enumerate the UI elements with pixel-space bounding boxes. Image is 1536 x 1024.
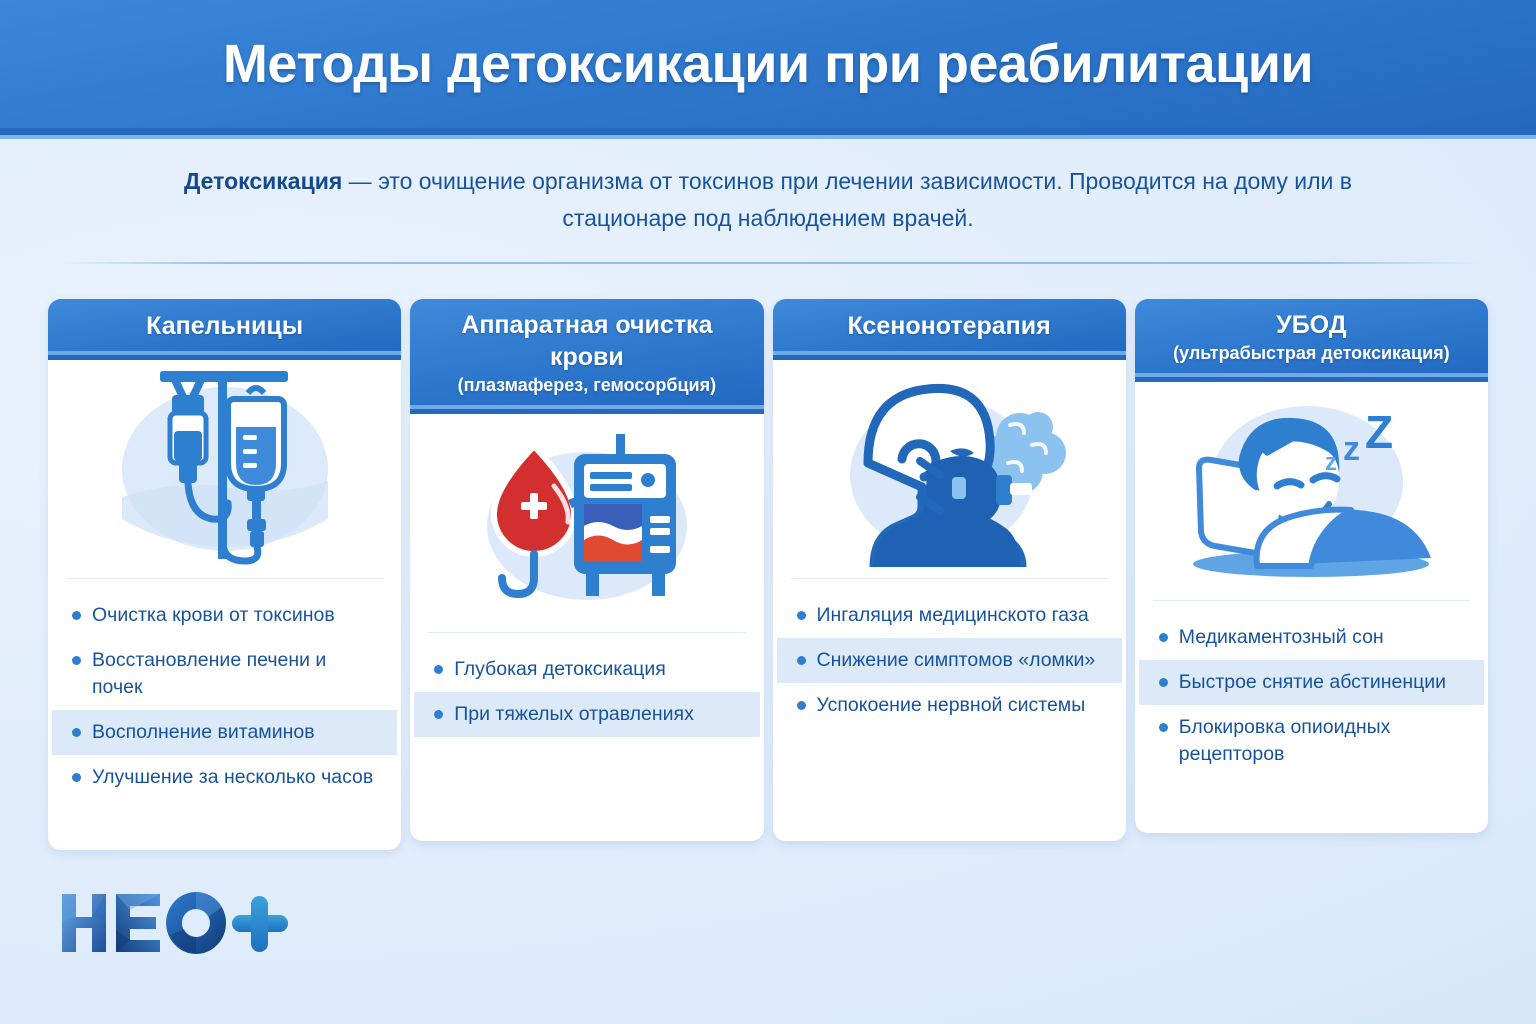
bullet-dot-icon <box>72 773 81 782</box>
card-subtitle: (плазмаферез, гемосорбция) <box>422 373 751 398</box>
heo-plus-logo-icon <box>60 890 290 956</box>
list-item-label: Быстрое снятие абстиненции <box>1179 669 1446 696</box>
list-item: Успокоение нервной системы <box>777 683 1122 728</box>
list-item: Блокировка опиоидных рецепторов <box>1139 705 1484 777</box>
inhalation-mask-icon <box>773 360 1126 578</box>
card-header: УБОД (ультрабыстрая детоксикация) <box>1135 299 1488 382</box>
benefit-list: Очистка крови от токсинов Восстановление… <box>48 579 401 850</box>
header-rule-light <box>0 135 1536 139</box>
list-item-label: Глубокая детоксикация <box>454 656 666 683</box>
intro-lead-word: Детоксикация <box>184 168 342 194</box>
method-card-ksenonoterapiya[interactable]: Ксенонотерапия <box>773 299 1126 841</box>
card-title: Аппаратная очистка крови <box>422 309 751 373</box>
list-item-label: Очистка крови от токсинов <box>92 602 335 629</box>
benefit-list: Ингаляция медицинското газа Снижение сим… <box>773 579 1126 841</box>
card-subtitle: (ультрабыстрая детоксикация) <box>1147 341 1476 366</box>
bullet-dot-icon <box>1159 633 1168 642</box>
list-item-label: Медикаментозный сон <box>1179 624 1384 651</box>
intro-rest-text: — это очищение организма от токсинов при… <box>342 168 1352 231</box>
bullet-dot-icon <box>72 728 81 737</box>
method-card-apparatnaya-ochistka[interactable]: Аппаратная очистка крови (плазмаферез, г… <box>410 299 763 841</box>
card-title: Капельницы <box>60 310 389 342</box>
bullet-dot-icon <box>797 611 806 620</box>
benefit-list: Глубокая детоксикация При тяжелых отравл… <box>410 633 763 841</box>
header-rule-dark <box>0 128 1536 135</box>
section-divider <box>58 262 1478 264</box>
list-item: Восстановление печени и почек <box>52 638 397 710</box>
sleeping-patient-icon: Z z z <box>1135 382 1488 600</box>
blood-purification-icon <box>410 414 763 632</box>
list-item: Ингаляция медицинското газа <box>777 593 1122 638</box>
bullet-dot-icon <box>72 611 81 620</box>
list-item-label: Успокоение нервной системы <box>817 692 1086 719</box>
method-card-ubod[interactable]: УБОД (ультрабыстрая детоксикация) <box>1135 299 1488 833</box>
card-title: Ксенонотерапия <box>785 310 1114 342</box>
svg-text:Z: Z <box>1365 406 1393 458</box>
list-item: Медикаментозный сон <box>1139 615 1484 660</box>
iv-drip-icon <box>48 360 401 578</box>
list-item: При тяжелых отравлениях <box>414 692 759 737</box>
benefit-list: Медикаментозный сон Быстрое снятие абсти… <box>1135 601 1488 833</box>
list-item-label: Ингаляция медицинското газа <box>817 602 1089 629</box>
card-header: Капельницы <box>48 299 401 360</box>
list-item-label: Восстановление печени и почек <box>92 647 381 701</box>
bullet-dot-icon <box>1159 723 1168 732</box>
bullet-dot-icon <box>797 701 806 710</box>
method-cards-row: Капельницы <box>48 299 1488 850</box>
card-header: Ксенонотерапия <box>773 299 1126 360</box>
infographic-page: Методы детоксикации при реабилитации Дет… <box>0 0 1536 1024</box>
card-header: Аппаратная очистка крови (плазмаферез, г… <box>410 299 763 414</box>
list-item-label: Улучшение за несколько часов <box>92 764 373 791</box>
list-item: Снижение симптомов «ломки» <box>777 638 1122 683</box>
list-item: Быстрое снятие абстиненции <box>1139 660 1484 705</box>
bullet-dot-icon <box>797 656 806 665</box>
svg-text:z: z <box>1325 449 1337 476</box>
list-item-label: Восполнение витаминов <box>92 719 315 746</box>
intro-paragraph: Детоксикация — это очищение организма от… <box>168 163 1368 237</box>
svg-text:z: z <box>1343 430 1360 468</box>
page-title: Методы детоксикации при реабилитации <box>223 33 1313 95</box>
list-item: Очистка крови от токсинов <box>52 593 397 638</box>
bullet-dot-icon <box>72 656 81 665</box>
method-card-kapelnitsy[interactable]: Капельницы <box>48 299 401 850</box>
list-item: Восполнение витаминов <box>52 710 397 755</box>
list-item-label: Блокировка опиоидных рецепторов <box>1179 714 1468 768</box>
list-item: Глубокая детоксикация <box>414 647 759 692</box>
list-item: Улучшение за несколько часов <box>52 755 397 800</box>
bullet-dot-icon <box>434 710 443 719</box>
brand-logo <box>60 890 290 956</box>
bullet-dot-icon <box>434 665 443 674</box>
bullet-dot-icon <box>1159 678 1168 687</box>
list-item-label: Снижение симптомов «ломки» <box>817 647 1096 674</box>
card-title: УБОД <box>1147 309 1476 341</box>
header-banner: Методы детоксикации при реабилитации <box>0 0 1536 128</box>
list-item-label: При тяжелых отравлениях <box>454 701 694 728</box>
